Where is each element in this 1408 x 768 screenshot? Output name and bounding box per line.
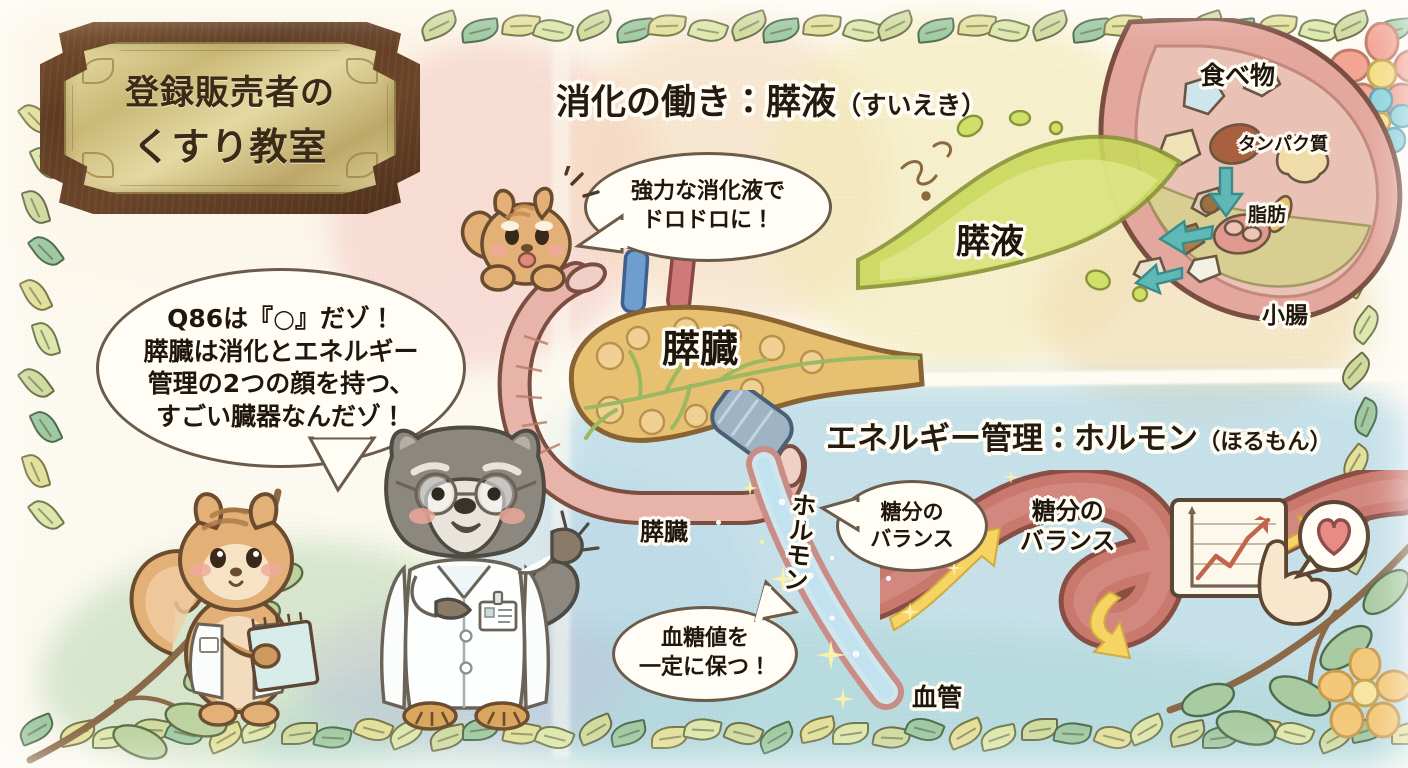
bubble-sugar-balance-tail xyxy=(818,492,864,538)
plaque-ornament-bl xyxy=(82,152,114,178)
chart-tablet-group xyxy=(1168,494,1378,664)
label-food: 食べ物 xyxy=(1200,56,1275,92)
bubble-sugar-balance-line-2: バランス xyxy=(870,526,954,553)
label-protein: タンパク質 xyxy=(1238,130,1328,156)
sparkle-dot-icon xyxy=(760,540,764,544)
label-pancreas-small: 膵臓 xyxy=(640,512,688,547)
plaque-ornament-tr xyxy=(346,58,378,84)
sparkle-dot-icon xyxy=(800,520,805,525)
bubble-blood-sugar-line-1: 血糖値を xyxy=(661,625,749,654)
label-fat: 脂肪 xyxy=(1248,200,1286,227)
bubble-professor-line-3: 管理の2つの顔を持つ、 xyxy=(148,368,414,401)
bubble-digestive-juice-line-1: 強力な消化液で xyxy=(631,178,785,207)
character-wolf-professor xyxy=(330,420,620,750)
heading-digestion-text: 消化の働き：膵液 xyxy=(556,83,836,123)
plaque-title-line-1: 登録販売者の xyxy=(125,65,335,114)
plaque-brass-plate: 登録販売者の くすり教室 xyxy=(64,42,396,194)
bubble-professor-line-1: Q86は『○』だゾ！ xyxy=(167,303,395,336)
label-sugar-balance-vessel-line-2: バランス xyxy=(1020,526,1116,556)
plaque-ornament-br xyxy=(346,152,378,178)
bubble-professor-line-2: 膵臓は消化とエネルギー xyxy=(143,336,418,369)
heading-hormone-ruby: （ほるもん） xyxy=(1198,429,1332,455)
label-blood-vessel: 血管 xyxy=(912,678,962,714)
label-sugar-balance-vessel: 糖分の バランス xyxy=(1020,496,1116,556)
label-pancreas-main: 膵臓 xyxy=(662,318,738,373)
bubble-digestive-juice-line-2: ドロドロに！ xyxy=(642,207,774,236)
plaque-ornament-tl xyxy=(82,58,114,84)
sparkle-dot-icon xyxy=(830,556,834,560)
character-chipmunk-student xyxy=(126,466,356,746)
plaque-title-line-2: くすり教室 xyxy=(132,116,327,171)
sparkle-dot-icon xyxy=(716,520,721,525)
heart-bubble xyxy=(1298,502,1368,576)
bubble-blood-sugar-tail xyxy=(752,576,812,636)
bubble-sugar-balance-line-1: 糖分の xyxy=(881,499,944,526)
illustration-canvas: 登録販売者の くすり教室 消化の働き：膵液（すいえき） エネルギー管理：ホルモン… xyxy=(0,0,1408,768)
label-sugar-balance-vessel-line-1: 糖分の xyxy=(1020,496,1116,526)
character-squirrel-small xyxy=(452,166,602,316)
label-pancreatic-juice: 膵液 xyxy=(956,214,1024,263)
title-plaque: 登録販売者の くすり教室 xyxy=(40,22,420,214)
label-small-intestine: 小腸 xyxy=(1262,296,1308,330)
bubble-blood-sugar-line-2: 一定に保つ！ xyxy=(639,654,771,683)
sparkle-dot-icon xyxy=(886,576,891,581)
